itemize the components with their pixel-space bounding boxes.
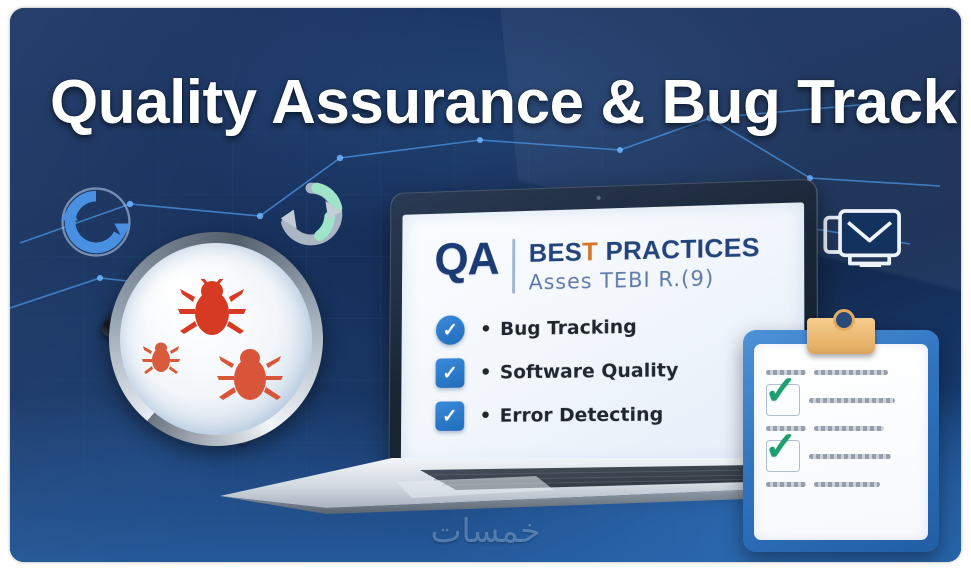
page-title: Quality Assurance & Bug Tracking bbox=[50, 63, 930, 143]
banner-card: Quality Assurance & Bug Tracking bbox=[10, 8, 961, 562]
scribble-line bbox=[814, 426, 884, 431]
list-item-label: • Software Quality bbox=[480, 359, 679, 383]
screen-title-after: PRACTICES bbox=[598, 232, 760, 266]
bug-icon bbox=[142, 341, 180, 375]
feature-list: ✓ • Bug Tracking ✓ • Software Quality ✓ … bbox=[435, 309, 786, 431]
screen-title-accent: T bbox=[582, 236, 598, 266]
screen-subtitle: Asses TEBI R.(9) bbox=[529, 265, 760, 294]
checkmark-icon: ✓ bbox=[436, 358, 465, 388]
qa-logo: QA bbox=[434, 237, 498, 280]
bullet-dot: • bbox=[480, 362, 492, 384]
header-divider bbox=[512, 239, 515, 294]
magnifying-glass-icon bbox=[65, 226, 395, 556]
monitor-mail-icon bbox=[822, 206, 904, 280]
list-item: ✓ • Error Detecting bbox=[435, 398, 786, 430]
screen-title: BEST PRACTICES bbox=[529, 232, 760, 269]
checkbox: ✓ bbox=[766, 440, 800, 472]
list-item: ✓ • Software Quality bbox=[436, 354, 786, 388]
list-item-label: • Bug Tracking bbox=[480, 316, 637, 340]
scribble-line bbox=[814, 370, 888, 375]
bullet-dot: • bbox=[480, 405, 492, 427]
list-item-text: Error Detecting bbox=[500, 404, 664, 427]
checkmark-icon: ✓ bbox=[435, 401, 464, 431]
list-item-text: Software Quality bbox=[500, 359, 679, 383]
checkmark-icon: ✓ bbox=[436, 315, 465, 345]
checkmark-icon: ✓ bbox=[764, 427, 798, 467]
webcam-dot bbox=[597, 196, 601, 200]
checklist-check-row: ✓ bbox=[766, 440, 914, 472]
bug-icon bbox=[216, 347, 284, 405]
screen-header: QA BEST PRACTICES Asses TEBI R.(9) bbox=[434, 229, 785, 296]
scribble-line bbox=[766, 482, 806, 487]
list-item-label: • Error Detecting bbox=[480, 404, 664, 427]
screen-title-before: BES bbox=[529, 237, 582, 268]
scribble-line bbox=[814, 482, 880, 487]
bug-icon bbox=[176, 279, 248, 341]
checkmark-icon: ✓ bbox=[764, 371, 798, 411]
bullet-dot: • bbox=[480, 319, 492, 341]
scribble-line bbox=[809, 398, 895, 403]
list-item: ✓ • Bug Tracking bbox=[436, 309, 786, 345]
magnifier-ring bbox=[109, 232, 323, 446]
watermark: خمسات bbox=[10, 511, 961, 550]
magnifier-lens bbox=[120, 243, 312, 435]
list-item-text: Bug Tracking bbox=[500, 316, 637, 340]
checklist-text-row bbox=[766, 482, 914, 487]
checklist-check-row: ✓ bbox=[766, 384, 914, 416]
clipboard-clip bbox=[807, 318, 875, 354]
scribble-line bbox=[809, 454, 891, 459]
checkbox: ✓ bbox=[766, 384, 800, 416]
